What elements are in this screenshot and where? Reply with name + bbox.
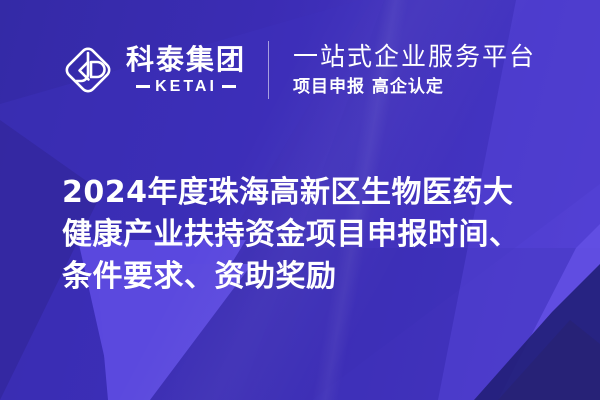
promo-banner: 科泰集团 KETAI 一站式企业服务平台 项目申报 高企认定 2024年度珠海高… [0, 0, 600, 400]
ketai-diamond-kt-monogram-icon [58, 40, 118, 100]
dash-right-icon [222, 85, 236, 88]
header-divider [268, 41, 269, 99]
tagline-secondary: 项目申报 高企认定 [293, 76, 536, 99]
dash-left-icon [136, 85, 150, 88]
brand-name-en: KETAI [155, 79, 217, 95]
banner-header: 科泰集团 KETAI 一站式企业服务平台 项目申报 高企认定 [58, 40, 536, 100]
brand-logo[interactable]: 科泰集团 KETAI [58, 40, 246, 100]
brand-wordmark: 科泰集团 KETAI [126, 45, 246, 94]
brand-name-cn: 科泰集团 [126, 45, 246, 75]
header-tagline: 一站式企业服务平台 项目申报 高企认定 [293, 41, 536, 99]
page-title: 2024年度珠海高新区生物医药大健康产业扶持资金项目申报时间、条件要求、资助奖励 [62, 172, 540, 298]
tagline-primary: 一站式企业服务平台 [293, 41, 536, 72]
brand-name-en-row: KETAI [126, 79, 246, 95]
